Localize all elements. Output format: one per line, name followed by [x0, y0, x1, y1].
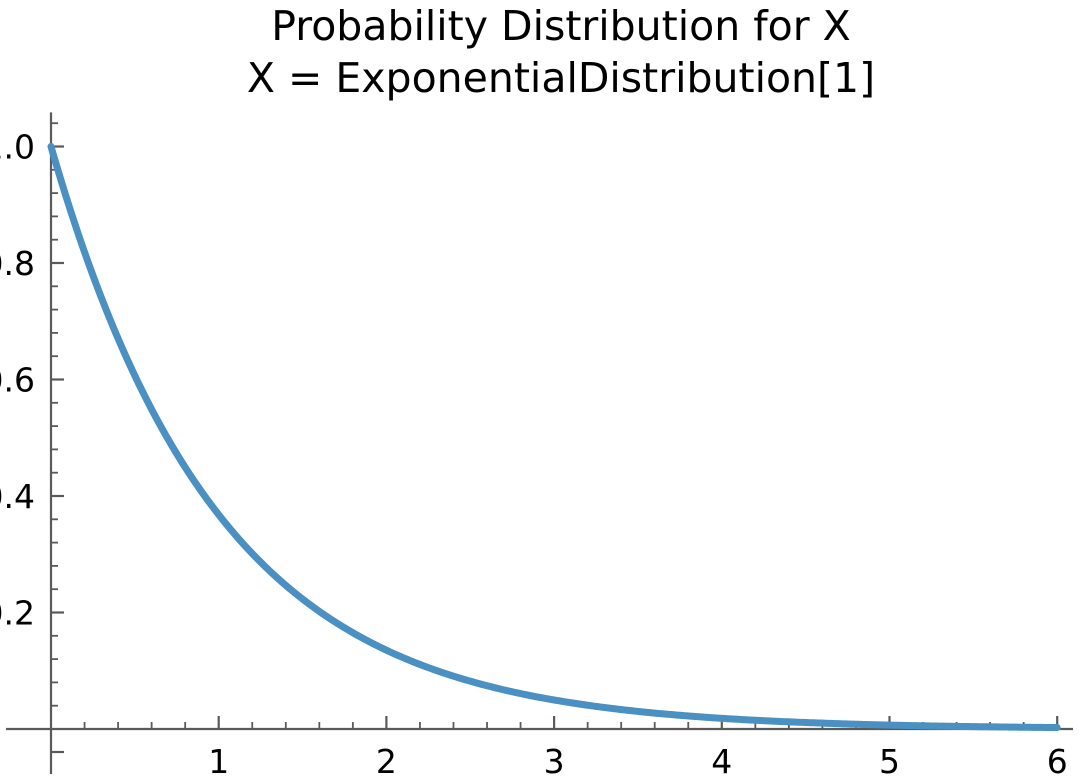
x-tick-label: 4 [711, 742, 732, 776]
y-tick-label: 0.6 [0, 361, 35, 400]
x-tick-label: 1 [208, 742, 229, 776]
x-tick-label: 2 [376, 742, 397, 776]
y-tick-label: 1.0 [0, 128, 35, 167]
x-tick-label: 5 [879, 742, 900, 776]
plot-area: 0.20.40.60.81.0 123456 [0, 0, 1080, 776]
y-tick-labels: 0.20.40.60.81.0 [0, 128, 35, 633]
y-tick-label: 0.8 [0, 244, 35, 283]
chart-figure: Probability Distribution for X X = Expon… [0, 0, 1080, 776]
y-tick-label: 0.2 [0, 594, 35, 633]
x-tick-label: 3 [544, 742, 565, 776]
x-tick-labels: 123456 [208, 742, 1067, 776]
y-axis [51, 112, 64, 774]
x-tick-label: 6 [1047, 742, 1068, 776]
y-tick-label: 0.4 [0, 477, 35, 516]
data-series-line [51, 147, 1057, 728]
